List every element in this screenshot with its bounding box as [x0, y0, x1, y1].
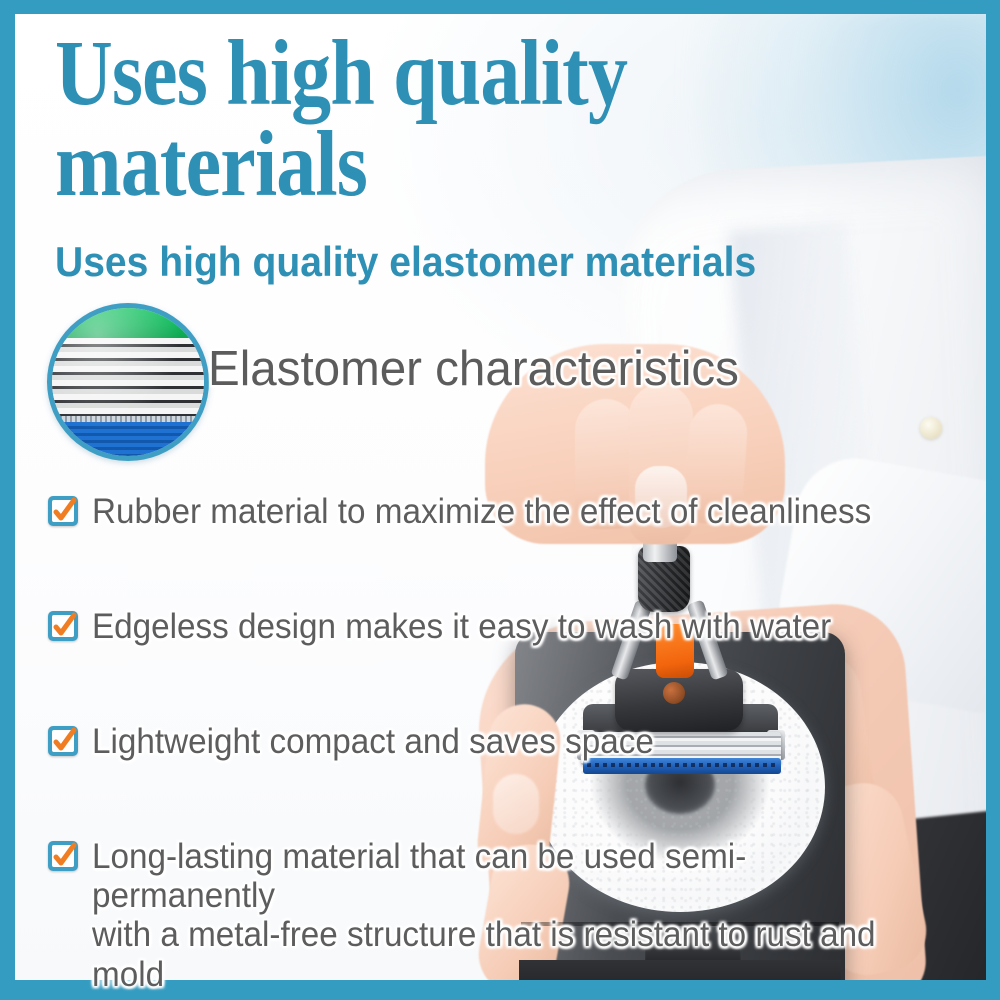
infographic-canvas: Uses high quality materials Uses high qu… — [0, 0, 1000, 1000]
razor-cartridge-closeup-icon — [47, 303, 209, 461]
checkbox-checked-icon — [48, 611, 78, 641]
content-layer: Uses high quality materials Uses high qu… — [0, 0, 1000, 1000]
page-subtitle: Uses high quality elastomer materials — [55, 240, 892, 284]
list-item: Edgeless design makes it easy to wash wi… — [48, 607, 958, 653]
section-heading: Elastomer characteristics — [208, 341, 739, 397]
checkbox-checked-icon — [48, 841, 78, 871]
checkbox-checked-icon — [48, 726, 78, 756]
feature-list: Rubber material to maximize the effect o… — [48, 492, 958, 994]
list-item: Rubber material to maximize the effect o… — [48, 492, 958, 538]
page-title: Uses high quality materials — [55, 28, 709, 210]
list-item-label: Edgeless design makes it easy to wash wi… — [92, 607, 915, 646]
list-item: Long-lasting material that can be used s… — [48, 837, 958, 994]
list-item-label: Rubber material to maximize the effect o… — [92, 492, 915, 531]
checkbox-checked-icon — [48, 496, 78, 526]
list-item: Lightweight compact and saves space — [48, 722, 958, 768]
list-item-label: Long-lasting material that can be used s… — [92, 837, 915, 994]
list-item-label: Lightweight compact and saves space — [92, 722, 915, 761]
badge-gloss — [52, 308, 204, 456]
